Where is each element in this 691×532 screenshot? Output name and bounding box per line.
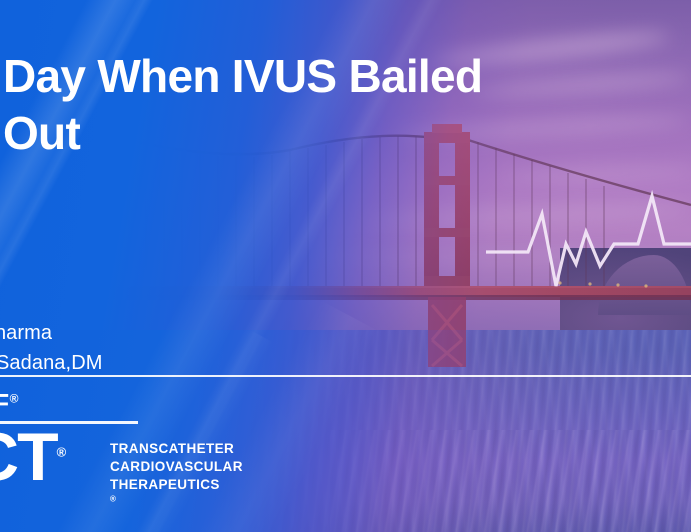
- author-list: ti sharma sh Sadana,DM: [0, 318, 389, 379]
- page-title: e Day When IVUS Bailed e Out: [0, 48, 606, 161]
- tct-wordmark: CT®: [0, 423, 66, 491]
- registered-mark-icon: ®: [57, 444, 67, 459]
- tagline-line-3: THERAPEUTICS®: [110, 476, 243, 512]
- registered-mark-icon: ®: [10, 391, 19, 405]
- horizontal-divider: [0, 375, 691, 377]
- crf-wordmark: RF®: [0, 390, 19, 416]
- crf-text: RF: [0, 388, 10, 418]
- registered-mark-icon: ®: [110, 494, 116, 503]
- tct-tagline: TRANSCATHETER CARDIOVASCULAR THERAPEUTIC…: [110, 440, 243, 512]
- tct-text: CT: [0, 419, 57, 495]
- tagline-line-3-text: THERAPEUTICS: [110, 476, 243, 494]
- title-slide: e Day When IVUS Bailed e Out ti sharma s…: [0, 0, 691, 532]
- tagline-line-2: CARDIOVASCULAR: [110, 458, 243, 476]
- author-name-1: ti sharma: [0, 318, 389, 348]
- tct-crf-logo: RF® CT® TRANSCATHETER CARDIOVASCULAR THE…: [0, 390, 274, 510]
- tagline-line-1: TRANSCATHETER: [110, 440, 243, 458]
